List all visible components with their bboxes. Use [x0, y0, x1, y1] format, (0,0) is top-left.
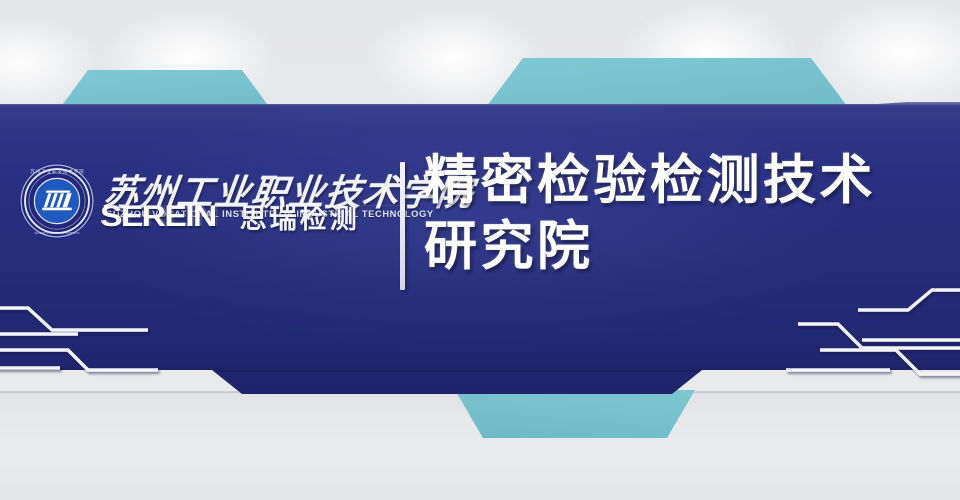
institute-title-line2: 研究院	[424, 214, 944, 280]
partner-brand-block: SEREIN 思瑞检测	[100, 197, 360, 237]
signage-scene: 苏 州 工 业 职 业 技 术 学 院 SUZHOU VOCATIONAL IN…	[0, 0, 960, 500]
teal-trapezoid-top-right	[487, 58, 847, 106]
vertical-divider-bar	[400, 162, 405, 290]
institute-title-line1: 精密检验检测技术	[424, 148, 944, 214]
institute-title: 精密检验检测技术 研究院	[424, 148, 944, 280]
svg-text:苏 州 工 业 职 业 技 术 学 院: 苏 州 工 业 职 业 技 术 学 院	[30, 168, 84, 175]
serein-wordmark-cn: 思瑞检测	[240, 197, 360, 236]
serein-wordmark: SEREIN	[100, 200, 216, 234]
siit-circular-emblem-icon: 苏 州 工 业 职 业 技 术 学 院 SUZHOU VOCATIONAL IN…	[18, 162, 96, 240]
banner-content: 苏 州 工 业 职 业 技 术 学 院 SUZHOU VOCATIONAL IN…	[0, 102, 960, 394]
teal-trapezoid-bottom	[455, 390, 695, 438]
svg-text:SUZHOU VOCATIONAL INSTITUTE: SUZHOU VOCATIONAL INSTITUTE	[35, 232, 80, 235]
